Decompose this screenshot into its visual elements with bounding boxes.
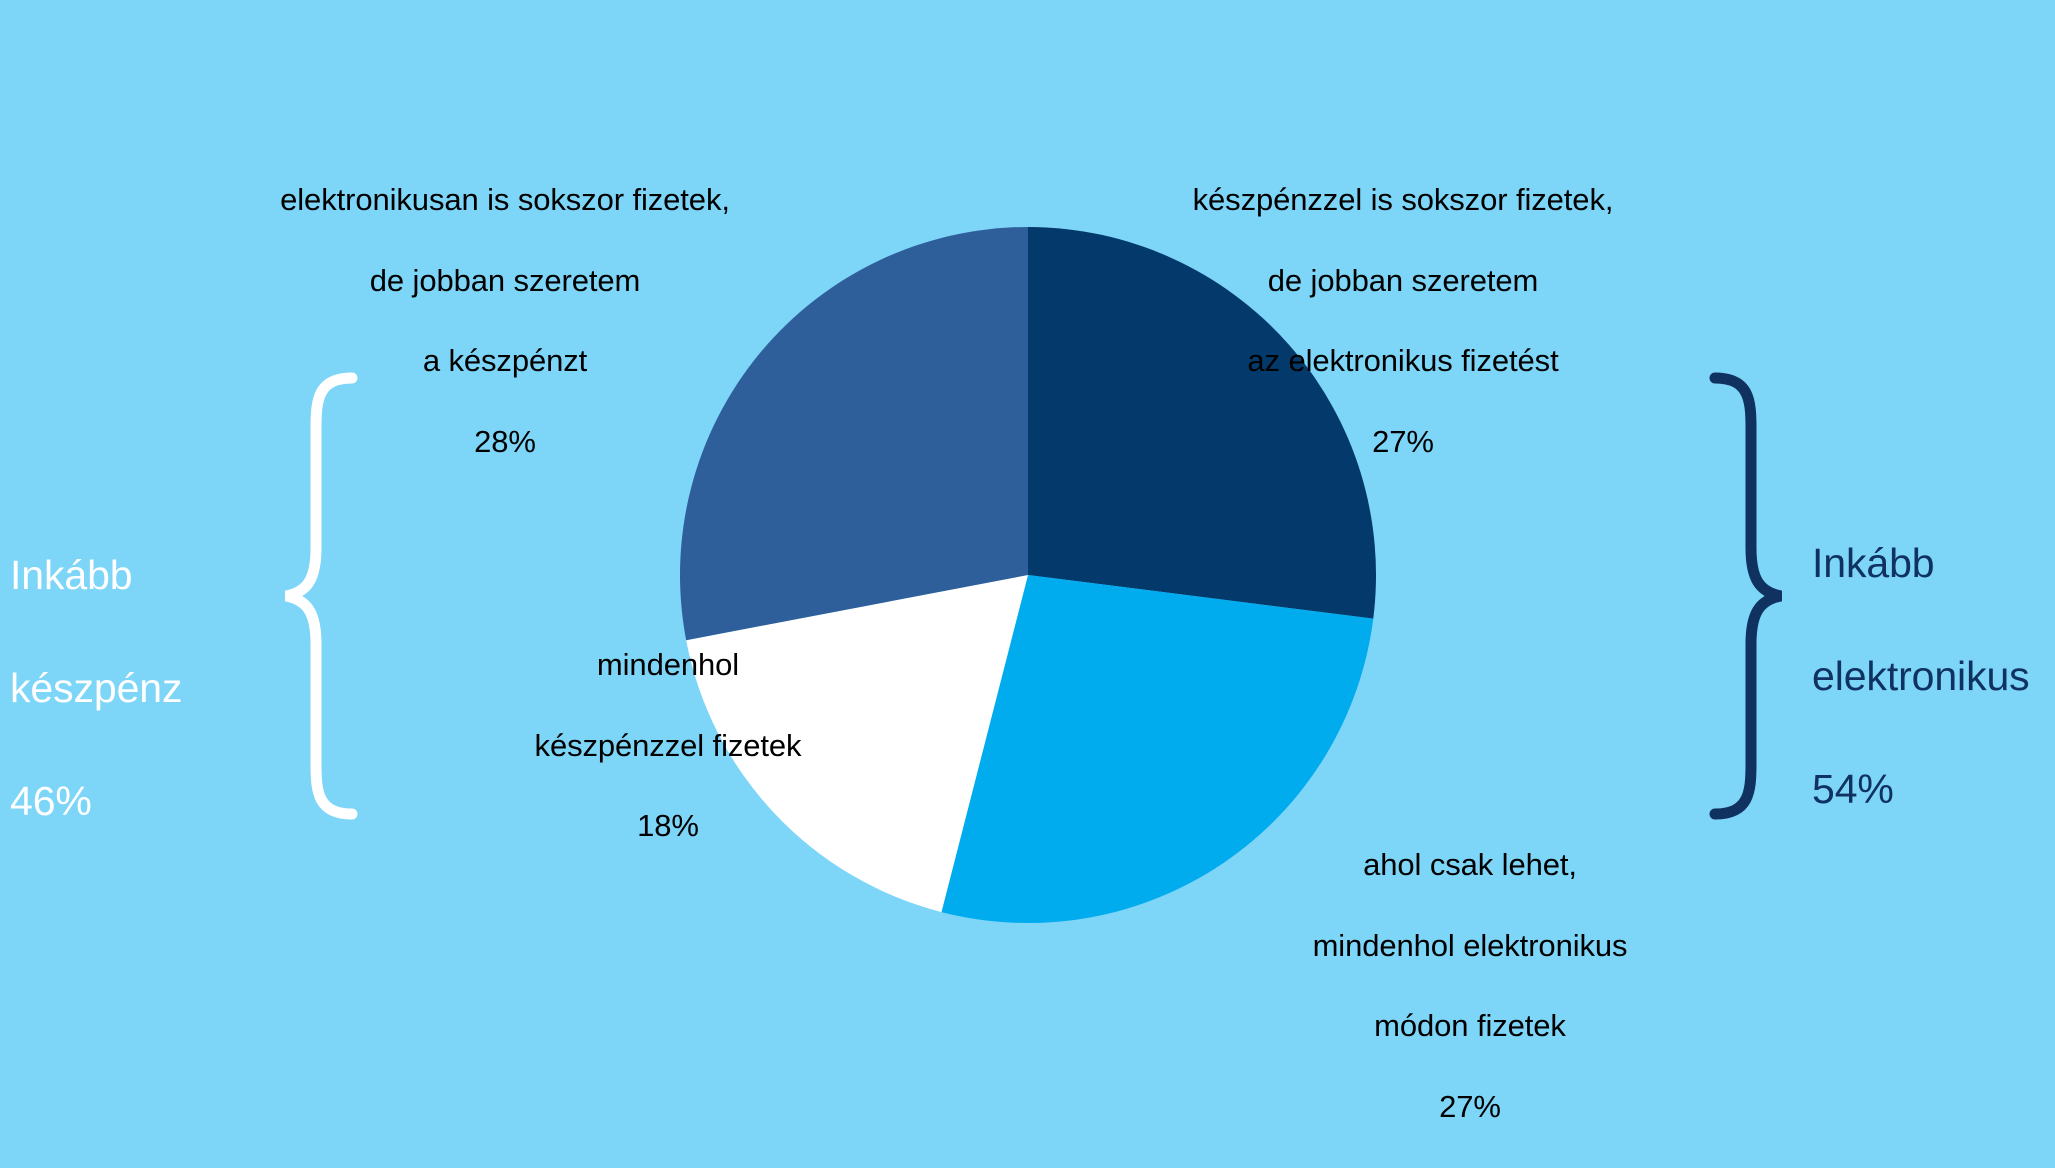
slice-label-line1: elektronikusan is sokszor fizetek, bbox=[270, 180, 740, 220]
slice-label-line3: a készpénzt bbox=[270, 341, 740, 381]
slice-label-mindig-keszpenz: mindenhol készpénzzel fizetek 18% bbox=[468, 605, 868, 887]
slice-label-line3: módon fizetek bbox=[1250, 1006, 1690, 1046]
slice-label-line2: készpénzzel fizetek bbox=[468, 726, 868, 766]
slice-label-line3: az elektronikus fizetést bbox=[1168, 341, 1638, 381]
slice-label-mindig-elektronikus: ahol csak lehet, mindenhol elektronikus … bbox=[1250, 805, 1690, 1168]
chart-canvas: elektronikusan is sokszor fizetek, de jo… bbox=[0, 0, 2055, 1156]
slice-label-value: 18% bbox=[468, 806, 868, 846]
slice-label-line2: de jobban szeretem bbox=[1168, 261, 1638, 301]
slice-label-value: 27% bbox=[1168, 422, 1638, 462]
slice-label-line2: mindenhol elektronikus bbox=[1250, 926, 1690, 966]
group-label-keszpenz: Inkább készpénz 46% bbox=[10, 490, 260, 886]
slice-label-line1: ahol csak lehet, bbox=[1250, 845, 1690, 885]
slice-label-keszpenz-preferencia: elektronikusan is sokszor fizetek, de jo… bbox=[270, 140, 740, 503]
group-label-elektronikus: Inkább elektronikus 54% bbox=[1812, 478, 2055, 874]
group-label-line2: elektronikus bbox=[1812, 648, 2055, 705]
slice-label-line1: mindenhol bbox=[468, 645, 868, 685]
slice-label-elektronikus-preferencia: készpénzzel is sokszor fizetek, de jobba… bbox=[1168, 140, 1638, 503]
slice-label-line1: készpénzzel is sokszor fizetek, bbox=[1168, 180, 1638, 220]
group-label-line1: Inkább bbox=[10, 547, 260, 604]
slice-label-value: 28% bbox=[270, 422, 740, 462]
group-label-line2: készpénz bbox=[10, 660, 260, 717]
right-brace bbox=[1715, 378, 1781, 814]
group-label-line1: Inkább bbox=[1812, 535, 2055, 592]
group-label-value: 46% bbox=[10, 773, 260, 830]
slice-label-value: 27% bbox=[1250, 1087, 1690, 1127]
group-label-value: 54% bbox=[1812, 761, 2055, 818]
slice-label-line2: de jobban szeretem bbox=[270, 261, 740, 301]
